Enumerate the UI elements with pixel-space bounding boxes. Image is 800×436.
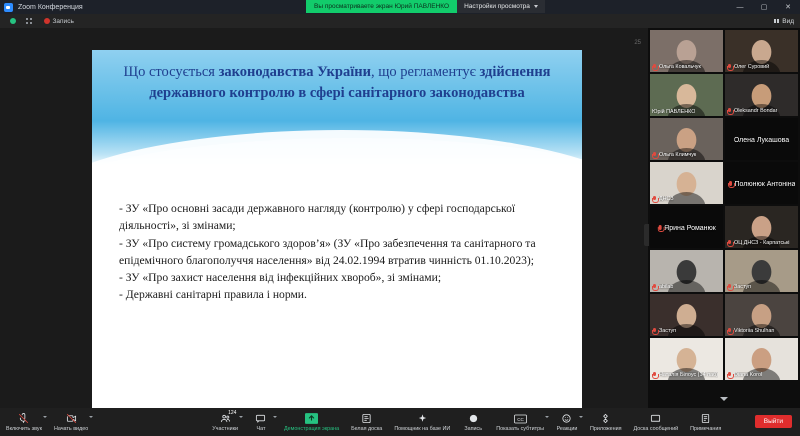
- participant-name-badge: ОЦ ДНСЗ - Карпатські: [727, 240, 790, 247]
- toolbar-whiteboard-button[interactable]: Белая доска: [345, 408, 388, 436]
- chevron-down-icon: [534, 5, 538, 8]
- toolbar-reactions-label: Реакции: [557, 426, 578, 432]
- participant-tile[interactable]: Ольга Климчук: [650, 118, 723, 160]
- participant-tile[interactable]: Олег Суровий: [725, 30, 798, 72]
- participant-name: Олег Суровий: [734, 64, 769, 70]
- sparkle-icon: [417, 413, 428, 425]
- toolbar-ai-companion-button[interactable]: Помощник на базе ИИ: [388, 408, 456, 436]
- mic-muted-icon: [652, 64, 657, 71]
- participant-name: Ольга Климчук: [659, 152, 696, 158]
- meeting-status-bar: Запись Вид: [0, 14, 800, 28]
- participant-name-badge: ДНСЗ: [652, 196, 674, 203]
- slide-title-bold-1: законодавства України: [219, 64, 371, 80]
- end-meeting-button[interactable]: Выйти: [755, 415, 792, 428]
- reactions-icon: [561, 413, 572, 425]
- participant-filmstrip: Ольга КовальчукОлег СуровийЮрій ПАВЛЕНКО…: [648, 28, 800, 408]
- participant-name: Юрій ПАВЛЕНКО: [652, 109, 695, 115]
- screen-share-banner: Вы просматриваете экран Юрий ПАВЛЕНКО На…: [306, 0, 545, 13]
- toolbar-share-screen-button[interactable]: Демонстрация экрана: [278, 408, 345, 436]
- toolbar-notes-label: Примечания: [690, 426, 721, 432]
- participant-name: Заступ: [734, 284, 751, 290]
- participant-name: Ярина Романюк: [664, 225, 716, 232]
- participant-name-badge: Заступ: [652, 328, 676, 335]
- board-icon: [650, 413, 661, 425]
- toolbar-chat-button[interactable]: Чат: [244, 408, 278, 436]
- participant-name-badge: Олена Лукашова: [734, 137, 789, 144]
- toolbar-participants-label: Участники: [212, 426, 238, 432]
- toolbar-captions-button[interactable]: CCПоказать субтитры: [490, 408, 550, 436]
- recording-indicator[interactable]: Запись: [44, 18, 74, 25]
- whiteboard-icon: [361, 413, 372, 425]
- filmstrip-collapse-handle[interactable]: [644, 224, 649, 246]
- toolbar-reactions-button[interactable]: Реакции: [550, 408, 584, 436]
- participant-tile[interactable]: abilab: [650, 250, 723, 292]
- participant-tile[interactable]: Заступ: [725, 250, 798, 292]
- chevron-up-icon[interactable]: [89, 416, 93, 418]
- participant-name: Ольга Ковальчук: [659, 64, 701, 70]
- toolbar-record-label: Запись: [464, 426, 482, 432]
- mic-muted-icon: [727, 64, 732, 71]
- toolbar-captions-label: Показать субтитры: [496, 426, 544, 432]
- participant-tile[interactable]: Viktoriia Shulhan: [725, 294, 798, 336]
- maximize-button[interactable]: ▢: [752, 0, 776, 14]
- chevron-up-icon[interactable]: [239, 416, 243, 418]
- toolbar-video-label: Начать видео: [54, 426, 88, 432]
- participant-tile[interactable]: Ольга Ковальчук: [650, 30, 723, 72]
- zoom-meeting-window: Zoom Конференция Вы просматриваете экран…: [0, 0, 800, 436]
- participants-count-badge: 124: [228, 410, 236, 416]
- participant-tiles: Ольга КовальчукОлег СуровийЮрій ПАВЛЕНКО…: [650, 30, 798, 380]
- mic-muted-icon: [727, 372, 732, 379]
- slide-page-mark: 25: [634, 40, 641, 46]
- record-icon: [468, 413, 479, 425]
- minimize-button[interactable]: —: [728, 0, 752, 14]
- presentation-slide: Що стосується законодавства України, що …: [92, 50, 582, 408]
- slide-title: Що стосується законодавства України, що …: [114, 62, 560, 103]
- participant-name: Олена Лукашова: [734, 137, 789, 144]
- participant-name-badge: Полюнюк Антоніна: [728, 181, 796, 188]
- mic-muted-icon: [727, 240, 732, 247]
- mic-muted-icon: [727, 284, 732, 291]
- toolbar-breakout-rooms-label: Доска сообщений: [634, 426, 679, 432]
- toolbar-ai-companion-label: Помощник на базе ИИ: [394, 426, 450, 432]
- participant-tile[interactable]: ОЦ ДНСЗ - Карпатські: [725, 206, 798, 248]
- share-banner-message: Вы просматриваете экран Юрий ПАВЛЕНКО: [306, 0, 457, 13]
- toolbar-breakout-rooms-button[interactable]: Доска сообщений: [628, 408, 685, 436]
- toolbar-items: Включить звукНачать видео124УчастникиЧат…: [0, 408, 727, 436]
- connection-status-icon: [10, 18, 16, 24]
- participant-name-badge: Заступ: [727, 284, 751, 291]
- participant-name-badge: Ольга Климчук: [652, 152, 696, 159]
- toolbar-whiteboard-label: Белая доска: [351, 426, 382, 432]
- toolbar-video-button[interactable]: Начать видео: [48, 408, 94, 436]
- filmstrip-next-page-button[interactable]: [648, 392, 800, 406]
- notes-icon: [700, 413, 711, 425]
- chevron-up-icon[interactable]: [579, 416, 583, 418]
- view-grid-icon: [774, 19, 779, 23]
- participant-tile[interactable]: Юрій ПАВЛЕНКО: [650, 74, 723, 116]
- participant-name-badge: Diana Korol: [727, 372, 762, 379]
- participant-name-badge: Ярина Романюк: [657, 225, 716, 232]
- svg-text:CC: CC: [517, 417, 524, 422]
- toolbar-notes-button[interactable]: Примечания: [684, 408, 727, 436]
- mic-muted-icon: [652, 196, 657, 203]
- participant-name: Заступ: [659, 328, 676, 334]
- slide-title-text-2: , що регламентує: [371, 64, 479, 80]
- apps-icon: [600, 413, 611, 425]
- participant-tile[interactable]: Ярина Романюк: [650, 206, 723, 248]
- zoom-logo-icon: [4, 3, 13, 12]
- share-screen-icon: [305, 413, 318, 425]
- participant-name: Oleksandr Bondar: [734, 108, 777, 114]
- mic-muted-icon: [652, 152, 657, 159]
- mic-muted-icon: [657, 225, 662, 232]
- chevron-up-icon[interactable]: [273, 416, 277, 418]
- toolbar-participants-button[interactable]: 124Участники: [206, 408, 244, 436]
- toolbar-chat-label: Чат: [257, 426, 266, 432]
- mic-muted-icon: [652, 372, 657, 379]
- participant-tile[interactable]: Наталія Білоус (14 лаб): [650, 338, 723, 380]
- participant-name-badge: Юрій ПАВЛЕНКО: [652, 109, 695, 115]
- participant-name-badge: Ольга Ковальчук: [652, 64, 701, 71]
- window-controls: — ▢ ✕: [728, 0, 800, 14]
- participant-name-badge: Наталія Білоус (14 лаб): [652, 372, 718, 379]
- participant-tile[interactable]: ДНСЗ: [650, 162, 723, 204]
- toolbar-apps-label: Приложения: [590, 426, 622, 432]
- chat-icon: [255, 413, 266, 425]
- view-options-label: Настройки просмотра: [464, 3, 530, 10]
- toolbar-record-button[interactable]: Запись: [456, 408, 490, 436]
- recording-label: Запись: [53, 18, 74, 25]
- participant-tile[interactable]: Diana Korol: [725, 338, 798, 380]
- participant-tile[interactable]: Полюнюк Антоніна: [725, 162, 798, 204]
- participant-name-badge: Viktoriia Shulhan: [727, 328, 774, 335]
- toolbar-share-screen-label: Демонстрация экрана: [284, 426, 339, 432]
- toolbar-apps-button[interactable]: Приложения: [584, 408, 628, 436]
- participant-name-badge: Олег Суровий: [727, 64, 769, 71]
- participant-name: Viktoriia Shulhan: [734, 328, 774, 334]
- participant-tile[interactable]: Олена Лукашова: [725, 118, 798, 160]
- participant-name-badge: abilab: [652, 284, 673, 291]
- mic-muted-icon: [727, 108, 732, 115]
- chevron-down-icon: [720, 397, 728, 401]
- participant-name: Наталія Білоус (14 лаб): [659, 372, 718, 378]
- mic-muted-icon: [728, 181, 733, 188]
- participant-name: ДНСЗ: [659, 196, 674, 202]
- participant-name-badge: Oleksandr Bondar: [727, 108, 777, 115]
- mic-muted-icon: [18, 413, 29, 425]
- slide-body-text: - ЗУ «Про основні засади державного нагл…: [119, 200, 559, 304]
- captions-icon: CC: [514, 413, 527, 425]
- slide-title-text-1: Що стосується: [123, 64, 218, 80]
- window-title: Zoom Конференция: [18, 4, 83, 11]
- chevron-up-icon[interactable]: [43, 416, 47, 418]
- participant-name: Diana Korol: [734, 372, 762, 378]
- toolbar-audio-button[interactable]: Включить звук: [0, 408, 48, 436]
- window-titlebar: Zoom Конференция Вы просматриваете экран…: [0, 0, 800, 14]
- view-button[interactable]: Вид: [774, 18, 794, 25]
- record-dot-icon: [44, 18, 50, 24]
- close-button[interactable]: ✕: [776, 0, 800, 14]
- mic-muted-icon: [727, 328, 732, 335]
- mic-muted-icon: [652, 284, 657, 291]
- chevron-up-icon[interactable]: [545, 416, 549, 418]
- camera-muted-icon: [66, 413, 77, 425]
- participant-name: ОЦ ДНСЗ - Карпатські: [734, 240, 790, 246]
- mic-muted-icon: [652, 328, 657, 335]
- view-label: Вид: [782, 18, 794, 25]
- shared-screen-area: 25 Що стосується законодавства України, …: [0, 28, 648, 408]
- participant-name: abilab: [659, 284, 673, 290]
- participant-tile[interactable]: Oleksandr Bondar: [725, 74, 798, 116]
- meeting-toolbar: Включить звукНачать видео124УчастникиЧат…: [0, 408, 800, 436]
- layout-grid-icon[interactable]: [26, 18, 32, 24]
- view-options-dropdown[interactable]: Настройки просмотра: [457, 0, 545, 13]
- participant-name: Полюнюк Антоніна: [735, 181, 796, 188]
- toolbar-audio-label: Включить звук: [6, 426, 42, 432]
- participant-tile[interactable]: Заступ: [650, 294, 723, 336]
